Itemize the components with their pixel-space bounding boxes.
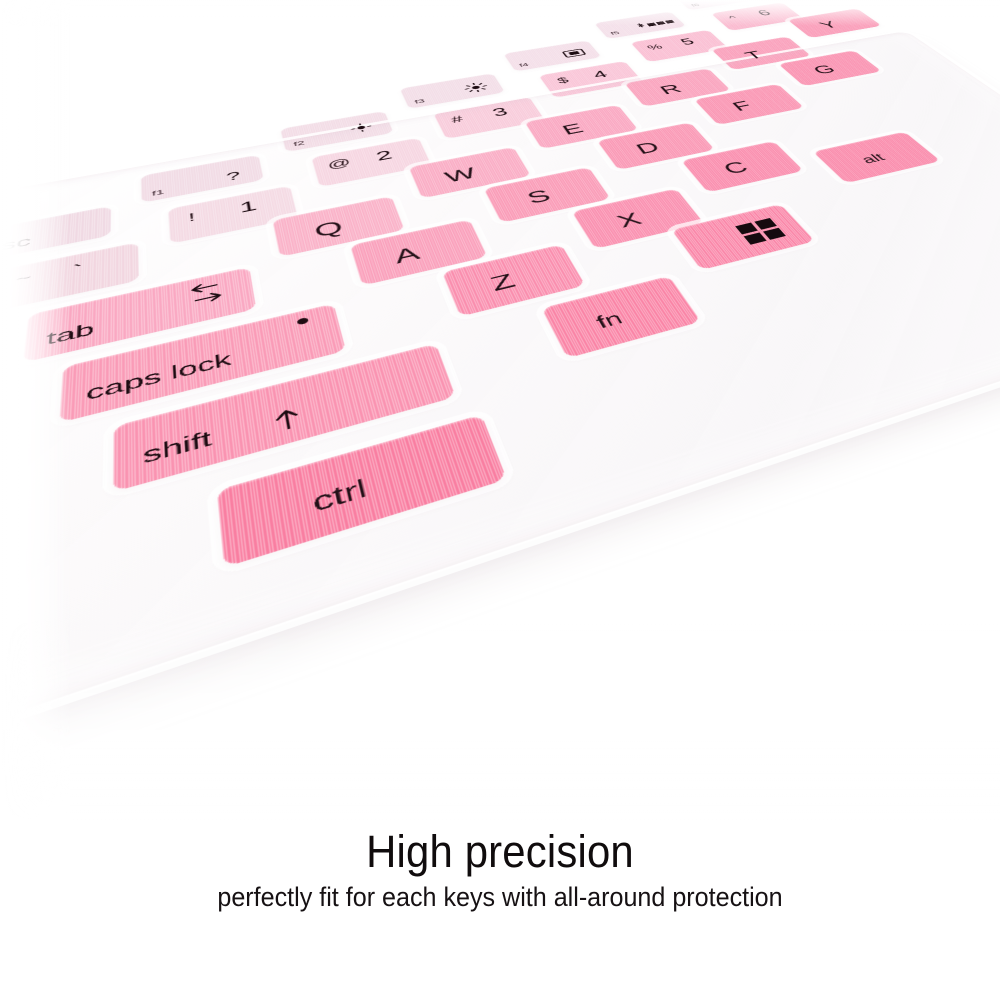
key-1-shift: ! <box>188 210 196 224</box>
key-f-label: F <box>729 99 755 113</box>
key-g-label: G <box>810 63 839 76</box>
key-3-base: 3 <box>490 105 511 119</box>
key-5-shift: % <box>645 43 665 52</box>
key-y-label: Y <box>816 20 841 31</box>
key-5-base: 5 <box>677 37 697 48</box>
key-f3-fnum: f3 <box>413 98 425 105</box>
key-e-label: E <box>559 122 586 138</box>
key-w-label: W <box>442 165 478 185</box>
key-f2-fnum: f2 <box>293 139 306 147</box>
key-y[interactable]: Y <box>787 8 882 38</box>
key-2-shift: @ <box>326 156 353 172</box>
key-4-shift: $ <box>555 76 571 86</box>
caption-block: High precision perfectly fit for each ke… <box>0 828 1000 913</box>
key-6-base: 6 <box>754 8 774 18</box>
key-6-shift: ^ <box>726 14 740 21</box>
key-5[interactable]: % 5 <box>630 30 729 62</box>
question-mark-icon: ? <box>225 169 241 184</box>
display-icon <box>562 49 587 58</box>
key-f4-fnum: f4 <box>518 62 530 68</box>
product-image: esc f1 ? f2 <box>0 0 1000 1000</box>
key-3-shift: # <box>449 114 465 126</box>
key-f5-fnum: f5 <box>609 30 621 35</box>
key-d-label: D <box>633 140 663 157</box>
key-r-label: R <box>657 83 685 97</box>
key-t-label: T <box>742 49 766 61</box>
caption-title: High precision <box>35 828 965 875</box>
keyboard-backlight-icon <box>633 18 677 30</box>
key-1-base: 1 <box>238 198 258 217</box>
caption-subtitle: perfectly fit for each keys with all-aro… <box>35 883 965 913</box>
key-f6-fnum: f6 <box>690 3 701 8</box>
key-f1-fnum: f1 <box>152 188 165 197</box>
brightness-up-icon <box>462 81 489 93</box>
key-2-base: 2 <box>374 148 395 164</box>
brightness-down-icon <box>349 121 374 133</box>
key-s-label: S <box>524 187 554 206</box>
key-6[interactable]: ^ 6 <box>711 2 804 31</box>
keyboard-cover-perspective: esc f1 ? f2 <box>0 0 1000 830</box>
key-4-base: 4 <box>590 69 611 81</box>
